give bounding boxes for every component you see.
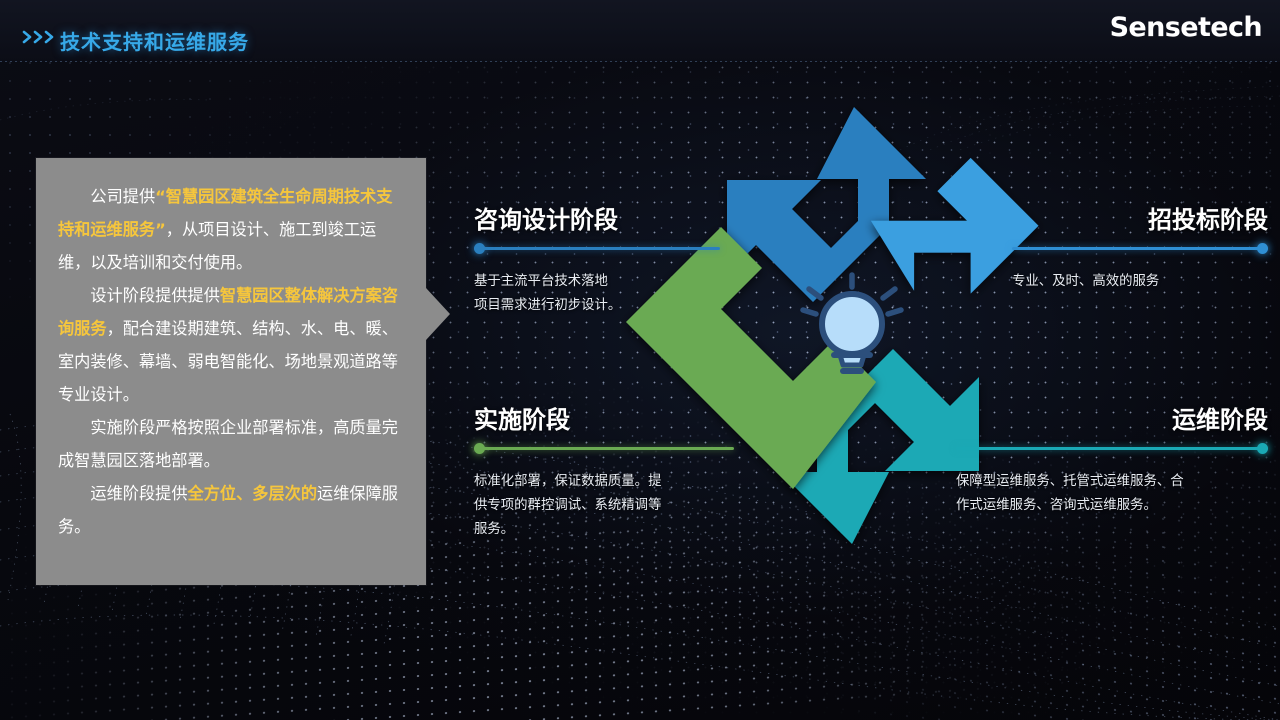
body-phrase: 实施阶段严格按照企业部署标准，高质量完成智慧园区落地部署。 bbox=[58, 418, 398, 470]
quadrant-title: 实施阶段 bbox=[474, 400, 734, 435]
quadrant-consulting-design: 咨询设计阶段 基于主流平台技术落地 项目需求进行初步设计。 bbox=[474, 200, 720, 318]
accent-bar bbox=[1012, 247, 1268, 250]
slide-canvas: 技术支持和运维服务 Sensetech 公司提供“智慧园区建筑全生命周期技术支持… bbox=[0, 0, 1280, 720]
quadrant-implementation: 实施阶段 标准化部署，保证数据质量。提 供专项的群控调试、系统精调等 服务。 bbox=[474, 400, 734, 542]
highlighted-phrase: 全方位、多层次的 bbox=[188, 484, 318, 503]
brand-logo: Sensetech bbox=[1110, 12, 1262, 43]
description-paragraph: 运维阶段提供全方位、多层次的运维保障服务。 bbox=[58, 477, 406, 543]
quadrant-description: 标准化部署，保证数据质量。提 供专项的群控调试、系统精调等 服务。 bbox=[474, 470, 734, 542]
accent-dot bbox=[1257, 243, 1268, 254]
quadrant-title: 招投标阶段 bbox=[1012, 200, 1268, 235]
description-paragraph: 公司提供“智慧园区建筑全生命周期技术支持和运维服务”，从项目设计、施工到竣工运维… bbox=[58, 180, 406, 279]
page-title: 技术支持和运维服务 bbox=[60, 26, 249, 55]
header-divider bbox=[0, 61, 1280, 62]
accent-bar bbox=[474, 447, 734, 450]
quadrant-accent-rule bbox=[1012, 243, 1268, 254]
accent-dot bbox=[474, 243, 485, 254]
quadrant-accent-rule bbox=[956, 443, 1268, 454]
quadrant-bidding: 招投标阶段 专业、及时、高效的服务 bbox=[1012, 200, 1268, 294]
quadrant-description: 专业、及时、高效的服务 bbox=[1012, 270, 1268, 294]
accent-dot bbox=[474, 443, 485, 454]
body-phrase: ，配合建设期建筑、结构、水、电、暖、室内装修、幕墙、弱电智能化、场地景观道路等专… bbox=[58, 319, 398, 404]
triple-chevron-right-icon bbox=[22, 30, 56, 44]
description-paragraph: 实施阶段严格按照企业部署标准，高质量完成智慧园区落地部署。 bbox=[58, 411, 406, 477]
quadrant-description: 基于主流平台技术落地 项目需求进行初步设计。 bbox=[474, 270, 720, 318]
quadrant-accent-rule bbox=[474, 243, 720, 254]
body-phrase: 运维阶段提供 bbox=[90, 484, 187, 503]
quadrant-description: 保障型运维服务、托管式运维服务、合 作式运维服务、咨询式运维服务。 bbox=[956, 470, 1268, 518]
quadrant-title: 咨询设计阶段 bbox=[474, 200, 720, 235]
description-panel: 公司提供“智慧园区建筑全生命周期技术支持和运维服务”，从项目设计、施工到竣工运维… bbox=[36, 158, 426, 585]
body-phrase: 公司提供 bbox=[90, 187, 155, 206]
accent-bar bbox=[474, 247, 720, 250]
quadrant-title: 运维阶段 bbox=[956, 400, 1268, 435]
quadrant-accent-rule bbox=[474, 443, 734, 454]
description-paragraph: 设计阶段提供提供智慧园区整体解决方案咨询服务，配合建设期建筑、结构、水、电、暖、… bbox=[58, 279, 406, 411]
description-text: 公司提供“智慧园区建筑全生命周期技术支持和运维服务”，从项目设计、施工到竣工运维… bbox=[58, 180, 406, 543]
body-phrase: 设计阶段提供提供 bbox=[90, 286, 220, 305]
quadrant-operation-maintenance: 运维阶段 保障型运维服务、托管式运维服务、合 作式运维服务、咨询式运维服务。 bbox=[956, 400, 1268, 518]
panel-pointer-arrow bbox=[426, 288, 450, 340]
accent-dot bbox=[1257, 443, 1268, 454]
accent-bar bbox=[956, 447, 1268, 450]
